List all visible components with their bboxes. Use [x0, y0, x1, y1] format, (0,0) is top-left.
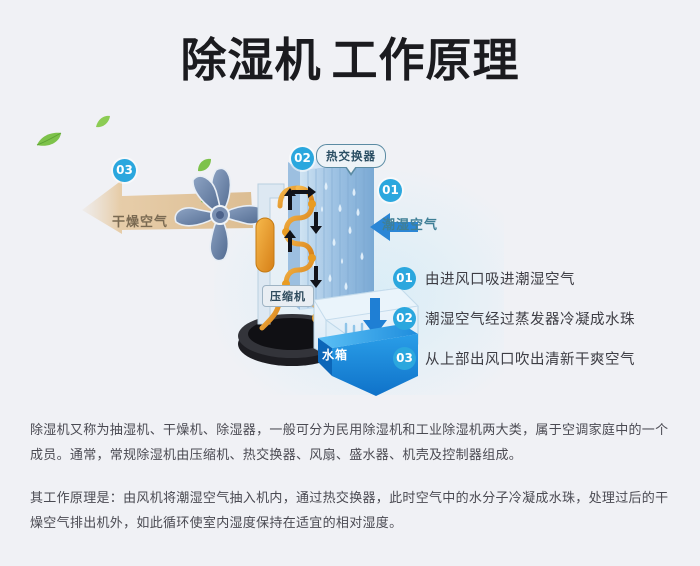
page-title-part2: 工作原理	[332, 33, 520, 87]
legend-text-02: 潮湿空气经过蒸发器冷凝成水珠	[425, 308, 635, 329]
compressor-label: 压缩机	[262, 285, 314, 307]
legend-badge-01: 01	[393, 267, 416, 290]
diagram-badge-03: 03	[113, 159, 136, 182]
heat-exchanger-callout: 热交换器	[316, 144, 386, 168]
body-paragraph-2: 其工作原理是：由风机将潮湿空气抽入机内，通过热交换器，此时空气中的水分子冷凝成水…	[30, 486, 675, 536]
dry-air-label: 干燥空气	[112, 211, 168, 230]
page-title-part1: 除湿机	[181, 33, 322, 87]
humid-air-label: 潮湿空气	[382, 214, 438, 233]
list-item: 01 由进风口吸进潮湿空气	[393, 258, 693, 298]
water-tank-label: 水箱	[322, 346, 348, 363]
list-item: 02 潮湿空气经过蒸发器冷凝成水珠	[393, 298, 693, 338]
legend-badge-03: 03	[393, 347, 416, 370]
legend-text-01: 由进风口吸进潮湿空气	[425, 268, 575, 289]
legend-badge-02: 02	[393, 307, 416, 330]
page-title: 除湿机工作原理	[0, 30, 700, 90]
list-item: 03 从上部出风口吹出清新干爽空气	[393, 338, 693, 378]
leaf-icon	[95, 115, 111, 129]
legend-list: 01 由进风口吸进潮湿空气 02 潮湿空气经过蒸发器冷凝成水珠 03 从上部出风…	[393, 258, 693, 378]
diagram-badge-02: 02	[291, 147, 314, 170]
body-copy: 除湿机又称为抽湿机、干燥机、除湿器，一般可分为民用除湿机和工业除湿机两大类，属于…	[30, 418, 675, 536]
legend-text-03: 从上部出风口吹出清新干爽空气	[425, 348, 635, 369]
leaf-icon	[36, 132, 62, 148]
page-root: 除湿机工作原理	[0, 0, 700, 566]
diagram-badge-01: 01	[379, 179, 402, 202]
body-paragraph-1: 除湿机又称为抽湿机、干燥机、除湿器，一般可分为民用除湿机和工业除湿机两大类，属于…	[30, 418, 675, 468]
